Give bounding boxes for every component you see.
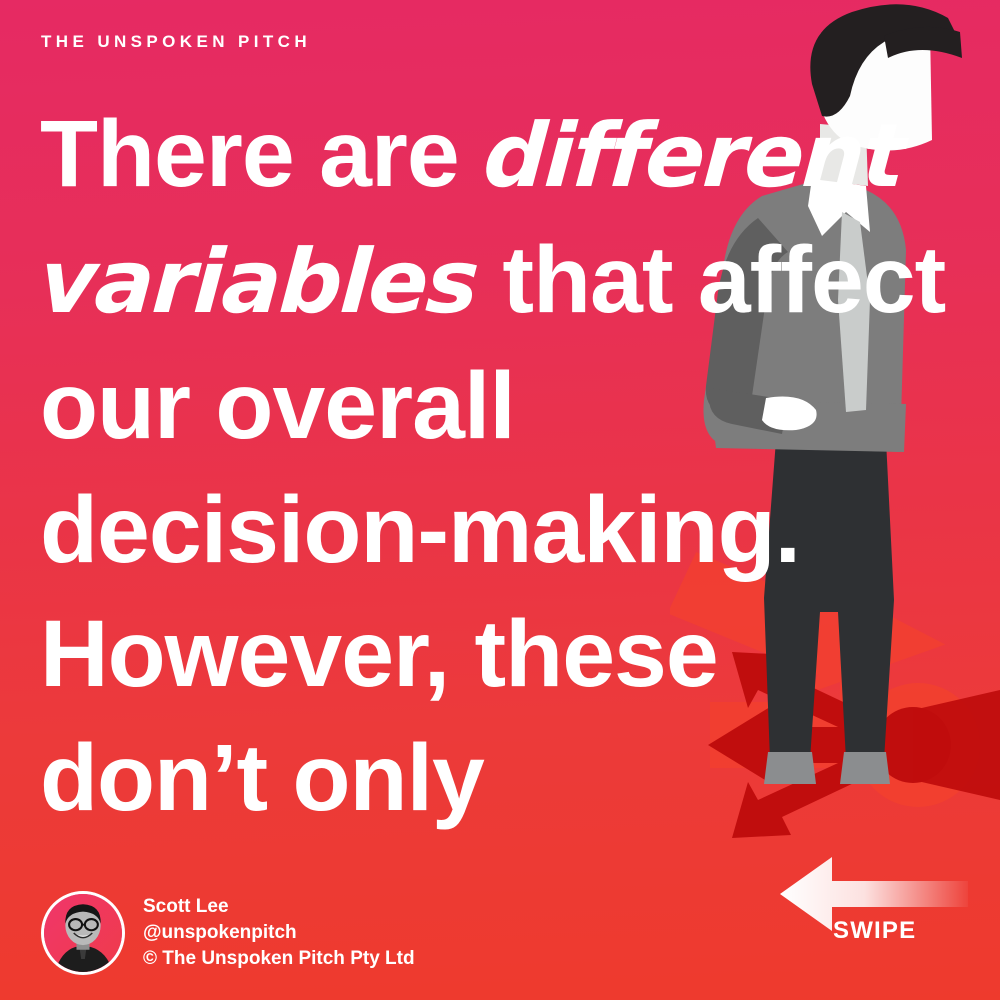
headline-text-script-different: different [480, 94, 908, 218]
headline-block: There are different variables that affec… [40, 92, 810, 840]
avatar-photo [44, 894, 122, 972]
author-block: Scott Lee @unspokenpitch © The Unspoken … [41, 891, 415, 975]
author-copyright: © The Unspoken Pitch Pty Ltd [143, 946, 415, 972]
swipe-label: SWIPE [833, 917, 916, 945]
headline-line-1: There are different [40, 92, 810, 218]
arrow-hub-light [856, 683, 980, 807]
headline-text-plain: that affect [477, 227, 945, 333]
headline-line-3: our overall [40, 344, 810, 468]
headline-text-script-variables: variables [36, 220, 482, 344]
author-text: Scott Lee @unspokenpitch © The Unspoken … [143, 894, 415, 971]
author-handle: @unspokenpitch [143, 920, 415, 946]
social-post-canvas: THE UNSPOKEN PITCH There are different v… [0, 0, 1000, 1000]
figure-shoe-right [840, 752, 890, 784]
headline-line-4: decision-making. [40, 468, 810, 592]
swipe-indicator[interactable]: SWIPE [778, 855, 968, 960]
headline-text-plain: There are [40, 101, 484, 207]
author-name: Scott Lee [143, 894, 415, 920]
headline-line-6: don’t only [40, 716, 810, 840]
headline-line-5: However, these [40, 592, 810, 716]
headline-line-2: variables that affect [40, 218, 810, 344]
avatar [41, 891, 125, 975]
brand-header: THE UNSPOKEN PITCH [41, 32, 311, 52]
